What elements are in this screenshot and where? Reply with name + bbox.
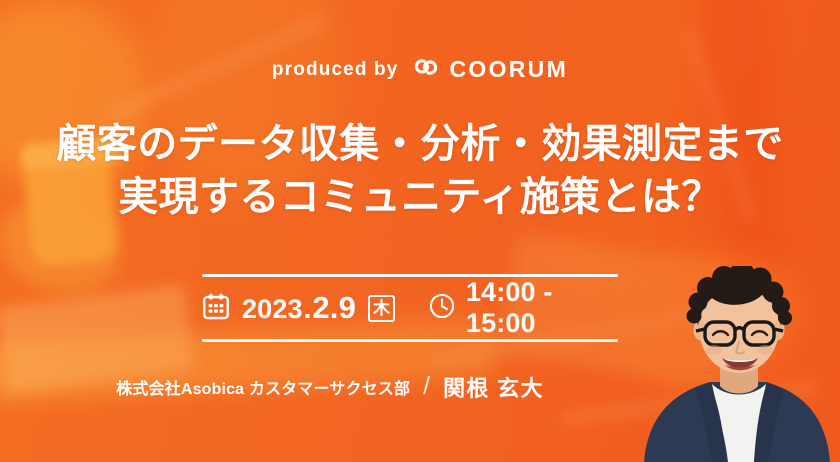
headline-line-2: 実現するコミュニティ施策とは？ [0, 171, 840, 224]
headline-line-1: 顧客のデータ収集・分析・効果測定まで [0, 118, 840, 171]
produced-by-label: produced by [272, 59, 399, 81]
event-date-group: 2023 . 2.9 木 [202, 290, 395, 326]
speaker-credit: 株式会社Asobica カスタマーサクセス部 / 関根 玄大 [0, 371, 660, 403]
webinar-banner: produced by COORUM 顧客のデータ収集・分析・効果測定まで 実現… [0, 0, 840, 462]
speaker-portrait [628, 266, 840, 462]
event-date: 2023 . 2.9 [242, 290, 356, 326]
speaker-name: 関根 玄大 [443, 371, 544, 403]
speaker-separator: / [423, 372, 430, 401]
clock-icon [429, 293, 455, 324]
event-time-group: 14:00 - 15:00 [429, 277, 618, 339]
date-separator: . [303, 294, 313, 325]
event-time: 14:00 - 15:00 [466, 277, 618, 339]
coorum-logo: COORUM [411, 55, 568, 84]
headline: 顧客のデータ収集・分析・効果測定まで 実現するコミュニティ施策とは？ [0, 118, 840, 224]
coorum-wordmark: COORUM [449, 56, 568, 83]
divider-top [202, 274, 618, 277]
divider-bottom [202, 339, 618, 342]
event-year: 2023 [242, 294, 303, 325]
event-month-day: 2.9 [312, 290, 356, 326]
produced-by-block: produced by COORUM [0, 55, 840, 84]
day-of-week-badge: 木 [368, 295, 395, 322]
interlocking-rings-icon [411, 55, 441, 84]
event-details-band: 2023 . 2.9 木 14:00 - 15:00 [202, 274, 618, 342]
speaker-organization: 株式会社Asobica カスタマーサクセス部 [116, 375, 410, 399]
calendar-icon [202, 292, 230, 325]
